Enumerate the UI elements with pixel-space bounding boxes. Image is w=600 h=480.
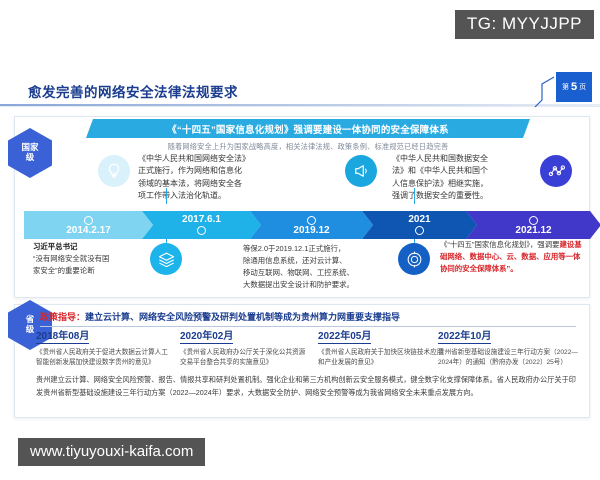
lightbulb-icon: [98, 155, 130, 187]
note1-heading: 习近平总书记: [33, 241, 151, 253]
site-url-watermark: www.tiyuyouxi-kaifa.com: [18, 438, 205, 466]
policy-doc-4: 贵州省新型基础设施建设三年行动方案（2022—2024年）的通知（黔府办发〔20…: [438, 348, 588, 368]
note1-line2: 家安全”的重要论断: [33, 266, 95, 275]
national-hex-line2: 级: [26, 153, 35, 163]
note2-line1: 等保2.0于2019.12.1正式施行，: [243, 244, 345, 253]
note1-line1: “没有网络安全就没有国: [33, 254, 109, 263]
page-number-badge: 第 5 页: [556, 72, 592, 102]
policy-date-3: 2022年05月: [318, 327, 371, 344]
national-timeline: 2014.2.17 2017.6.1 2019.12 2021 2021.12: [24, 211, 576, 239]
block2-line2: 法》和《中华人民共和国个: [392, 165, 568, 177]
timeline-dot-4: [415, 226, 424, 235]
megaphone-icon: [345, 155, 377, 187]
province-hex-line2: 级: [26, 325, 35, 335]
national-block-1-text: 《中华人民共和国网络安全法》 正式施行，作为网络和信息化 领域的基本法，将网络安…: [138, 153, 314, 203]
timeline-date-5: 2021.12: [515, 226, 551, 236]
timeline-segment-5[interactable]: 2021.12: [466, 211, 600, 239]
telegram-watermark: TG: MYYJJPP: [455, 10, 594, 39]
policy-doc-3: 《贵州省人民政府关于加快区块链技术应用和产业发展的意见》: [318, 348, 448, 368]
policy-column-1: 2018年08月 《贵州省人民政府关于促进大数据云计算人工智能创新发展加快建设数…: [36, 326, 170, 368]
policy-lead-label: 政策指导：: [40, 312, 85, 322]
block1-line1: 《中华人民共和国网络安全法》: [138, 153, 314, 165]
timeline-stem-up-2: [414, 188, 415, 204]
timeline-dot-2: [197, 226, 206, 235]
note2-line2: 除通用信息系统，还对云计算、: [243, 256, 346, 265]
block2-line4: 强调了数据安全的重要性。: [392, 190, 568, 202]
page-suffix: 页: [579, 82, 586, 92]
timeline-segment-1[interactable]: 2014.2.17: [24, 211, 153, 239]
timeline-stem-up-1: [166, 188, 167, 204]
timeline-date-2: 2017.6.1: [182, 215, 221, 225]
page-prefix: 第: [562, 82, 569, 92]
page-number: 5: [571, 81, 577, 93]
page-title: 愈发完善的网络安全法律法规要求: [28, 81, 238, 101]
policy-date-4: 2022年10月: [438, 327, 491, 344]
timeline-date-3: 2019.12: [293, 226, 329, 236]
block1-line4: 项工作带入法治化轨道。: [138, 190, 314, 202]
timeline-dot-5: [529, 216, 538, 225]
timeline-date-4: 2021: [408, 215, 430, 225]
policy-date-2: 2020年02月: [180, 327, 233, 344]
national-note-2: 等保2.0于2019.12.1正式施行， 除通用信息系统，还对云计算、 移动互联…: [243, 243, 393, 291]
policy-column-3: 2022年05月 《贵州省人民政府关于加快区块链技术应用和产业发展的意见》: [318, 326, 448, 368]
policy-body-label: 建立云计算、网络安全风险预警及研判处置机制等成为贵州算力网重要支撑指导: [85, 312, 400, 322]
page-badge-hook-icon: [534, 76, 556, 108]
timeline-segment-3[interactable]: 2019.12: [250, 211, 373, 239]
block1-line2: 正式施行，作为网络和信息化: [138, 165, 314, 177]
block2-line1: 《中华人民共和国数据安全: [392, 153, 568, 165]
compass-icon: [398, 243, 430, 275]
policy-date-1: 2018年08月: [36, 327, 89, 344]
note3-plain: 《“十四五”国家信息化规划》，强调要: [440, 240, 559, 249]
timeline-segment-2[interactable]: 2017.6.1: [142, 211, 261, 239]
block1-line3: 领域的基本法，将网络安全各: [138, 178, 314, 190]
timeline-dot-1: [84, 216, 93, 225]
national-note-1: 习近平总书记 “没有网络安全就没有国 家安全”的重要论断: [33, 241, 151, 277]
national-banner: 《“十四五”国家信息化规划》强调要建设一体协同的安全保障体系: [86, 119, 530, 138]
timeline-segment-4[interactable]: 2021: [362, 211, 477, 239]
national-block-2-text: 《中华人民共和国数据安全 法》和《中华人民共和国个 人信息保护法》相继实施， 强…: [392, 153, 568, 203]
policy-guidance-heading: 政策指导：建立云计算、网络安全风险预警及研判处置机制等成为贵州算力网重要支撑指导: [40, 310, 576, 327]
title-divider: [0, 104, 600, 106]
block2-line3: 人信息保护法》相继实施，: [392, 178, 568, 190]
policy-column-2: 2020年02月 《贵州省人民政府办公厅关于深化公共资源交易平台整合共享的实施意…: [180, 326, 310, 368]
note2-line3: 移动互联网、物联网、工控系统、: [243, 268, 354, 277]
timeline-date-1: 2014.2.17: [66, 226, 111, 236]
note2-line4: 大数据提出安全设计和防护要求。: [243, 280, 354, 289]
policy-column-4: 2022年10月 贵州省新型基础设施建设三年行动方案（2022—2024年）的通…: [438, 326, 588, 368]
national-note-3: 《“十四五”国家信息化规划》，强调要建设基础网络、数据中心、云、数据、应用等一体…: [440, 239, 582, 275]
policy-doc-1: 《贵州省人民政府关于促进大数据云计算人工智能创新发展加快建设数字贵州的意见》: [36, 348, 170, 368]
national-subtitle: 随着网络安全上升为国家战略高度，相关法律法规、政策条例、标准规范已经日趋完善: [86, 142, 530, 152]
timeline-dot-3: [307, 216, 316, 225]
province-summary-text: 贵州建立云计算、网络安全风险预警、报告、情报共享和研判处置机制。强化企业和第三方…: [36, 374, 576, 399]
policy-doc-2: 《贵州省人民政府办公厅关于深化公共资源交易平台整合共享的实施意见》: [180, 348, 310, 368]
slide-canvas: TG: MYYJJPP www.tiyuyouxi-kaifa.com 愈发完善…: [0, 0, 600, 480]
layers-icon: [150, 243, 182, 275]
